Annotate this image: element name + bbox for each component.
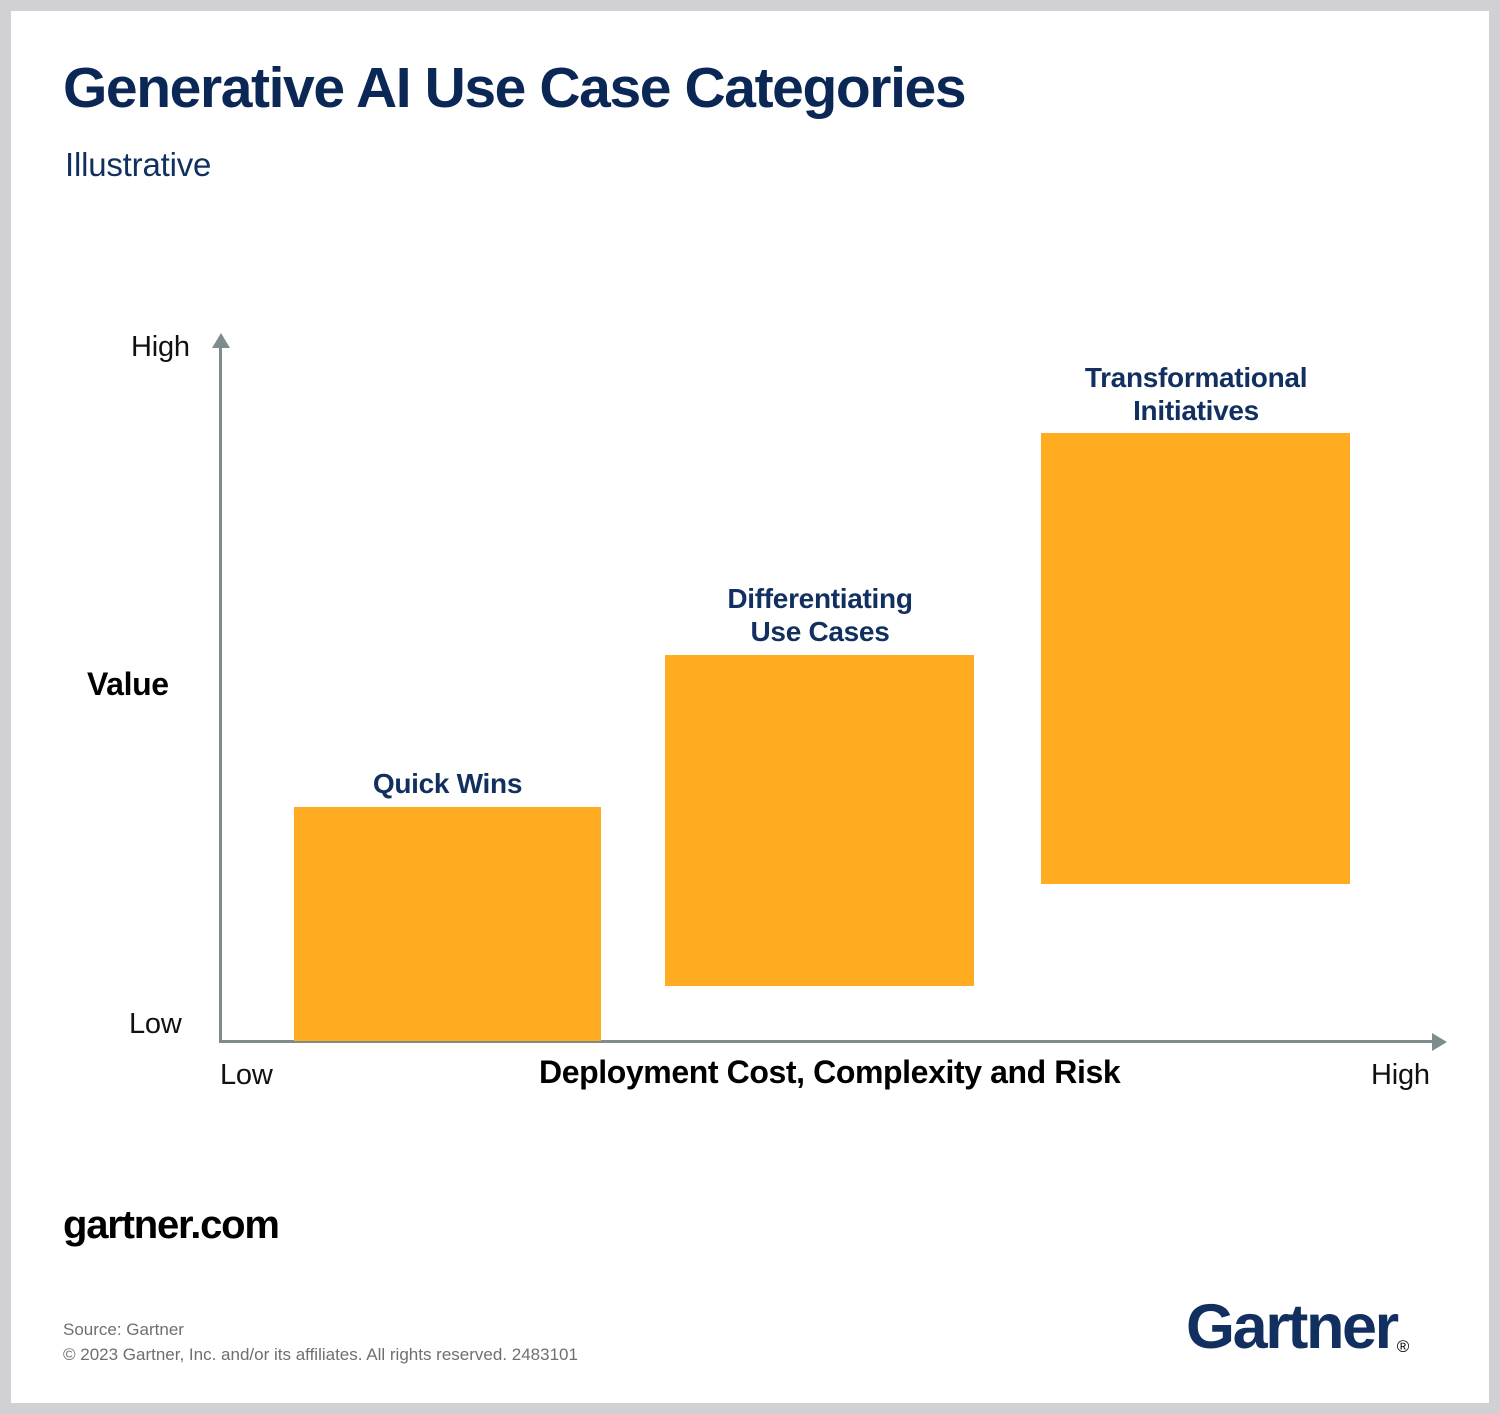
y-axis-high-label: High (131, 331, 190, 364)
x-axis-title: Deployment Cost, Complexity and Risk (539, 1054, 1120, 1091)
y-axis-arrow-icon (212, 333, 230, 348)
x-axis-low-label: Low (220, 1059, 273, 1092)
chart-plot-area: High Low Low High Value Deployment Cost,… (11, 11, 1489, 1403)
x-axis-high-label: High (1371, 1059, 1430, 1092)
bar-label-differentiating-use-cases: Differentiating Use Cases (640, 582, 1000, 648)
bar-label-line-1: Quick Wins (373, 768, 522, 799)
y-axis-title: Value (87, 666, 169, 703)
gartner-logo: Gartner® (1186, 1291, 1451, 1363)
bar-label-line-2: Use Cases (751, 616, 890, 647)
bar-quick-wins (294, 807, 601, 1041)
slide-card: Generative AI Use Case Categories Illust… (11, 11, 1489, 1403)
x-axis-arrow-icon (1432, 1033, 1447, 1051)
bar-label-quick-wins: Quick Wins (294, 767, 601, 800)
bar-label-line-2: Initiatives (1133, 395, 1259, 426)
source-line: Source: Gartner (63, 1318, 578, 1343)
copyright-line: © 2023 Gartner, Inc. and/or its affiliat… (63, 1343, 578, 1368)
bar-differentiating-use-cases (665, 655, 974, 986)
registered-trademark-icon: ® (1397, 1337, 1410, 1356)
bar-label-transformational-initiatives: Transformational Initiatives (1016, 361, 1376, 427)
page-background: Generative AI Use Case Categories Illust… (0, 0, 1500, 1414)
source-attribution: Source: Gartner © 2023 Gartner, Inc. and… (63, 1318, 578, 1367)
bar-label-line-1: Differentiating (727, 583, 912, 614)
gartner-logo-wordmark: Gartner (1186, 1292, 1397, 1362)
y-axis-line (219, 345, 222, 1042)
bar-label-line-1: Transformational (1085, 362, 1307, 393)
bar-transformational-initiatives (1041, 433, 1350, 884)
gartner-site-url[interactable]: gartner.com (63, 1203, 279, 1248)
y-axis-low-label: Low (129, 1008, 182, 1041)
